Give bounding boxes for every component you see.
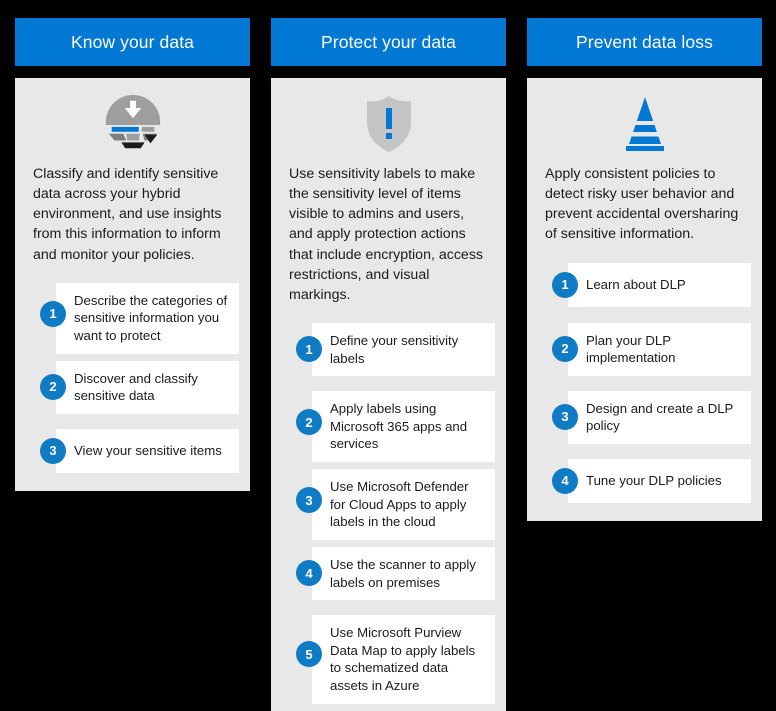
column-panel-know-your-data: Classify and identify sensitive data acr… <box>15 78 250 491</box>
step-card[interactable]: View your sensitive items <box>56 429 239 473</box>
step-number-badge: 3 <box>296 487 322 513</box>
column-header-label: Know your data <box>71 32 194 53</box>
list-item[interactable]: Define your sensitivity labels 1 <box>271 323 506 375</box>
list-item[interactable]: Design and create a DLP policy 3 <box>527 391 762 443</box>
steps-list-protect-your-data: Define your sensitivity labels 1 Apply l… <box>271 323 506 693</box>
list-item[interactable]: Tune your DLP policies 4 <box>527 459 762 503</box>
step-label: Apply labels using Microsoft 365 apps an… <box>330 400 485 453</box>
list-item[interactable]: Use the scanner to apply labels on premi… <box>271 547 506 599</box>
list-item[interactable]: View your sensitive items 3 <box>15 429 250 473</box>
steps-list-prevent-data-loss: Learn about DLP 1 Plan your DLP implemen… <box>527 263 762 503</box>
step-label: Define your sensitivity labels <box>330 332 485 367</box>
column-header-know-your-data: Know your data <box>15 18 250 66</box>
step-number-badge: 1 <box>40 301 66 327</box>
step-number-badge: 4 <box>552 468 578 494</box>
step-card[interactable]: Discover and classify sensitive data <box>56 361 239 414</box>
step-label: Learn about DLP <box>586 276 686 294</box>
step-number-badge: 3 <box>552 404 578 430</box>
step-card[interactable]: Design and create a DLP policy <box>568 391 751 444</box>
list-item[interactable]: Learn about DLP 1 <box>527 263 762 307</box>
step-card[interactable]: Tune your DLP policies <box>568 459 751 503</box>
step-number-badge: 4 <box>296 560 322 586</box>
step-card[interactable]: Use Microsoft Purview Data Map to apply … <box>312 615 495 704</box>
classify-download-circle-icon <box>15 78 250 164</box>
list-item[interactable]: Discover and classify sensitive data 2 <box>15 361 250 413</box>
step-label: Use the scanner to apply labels on premi… <box>330 556 485 591</box>
shield-exclamation-icon <box>271 78 506 164</box>
infographic-board: Know your data Classify and ide <box>0 0 776 682</box>
column-panel-prevent-data-loss: Apply consistent policies to detect risk… <box>527 78 762 521</box>
column-intro-text: Use sensitivity labels to make the sensi… <box>271 164 506 309</box>
step-label: Tune your DLP policies <box>586 472 722 490</box>
column-header-protect-your-data: Protect your data <box>271 18 506 66</box>
steps-list-know-your-data: Describe the categories of sensitive inf… <box>15 283 250 473</box>
column-intro-text: Classify and identify sensitive data acr… <box>15 164 250 269</box>
step-card[interactable]: Describe the categories of sensitive inf… <box>56 283 239 354</box>
step-label: View your sensitive items <box>74 442 222 460</box>
step-number-badge: 2 <box>40 374 66 400</box>
step-label: Design and create a DLP policy <box>586 400 741 435</box>
list-item[interactable]: Apply labels using Microsoft 365 apps an… <box>271 391 506 453</box>
step-card[interactable]: Use the scanner to apply labels on premi… <box>312 547 495 600</box>
column-intro-text: Apply consistent policies to detect risk… <box>527 164 762 249</box>
list-item[interactable]: Describe the categories of sensitive inf… <box>15 283 250 345</box>
step-number-badge: 2 <box>552 336 578 362</box>
step-number-badge: 2 <box>296 409 322 435</box>
step-label: Use Microsoft Purview Data Map to apply … <box>330 624 485 695</box>
step-label: Plan your DLP implementation <box>586 332 741 367</box>
step-card[interactable]: Use Microsoft Defender for Cloud Apps to… <box>312 469 495 540</box>
step-label: Use Microsoft Defender for Cloud Apps to… <box>330 478 485 531</box>
step-number-badge: 1 <box>552 272 578 298</box>
column-panel-protect-your-data: Use sensitivity labels to make the sensi… <box>271 78 506 711</box>
list-item[interactable]: Plan your DLP implementation 2 <box>527 323 762 375</box>
step-card[interactable]: Apply labels using Microsoft 365 apps an… <box>312 391 495 462</box>
list-item[interactable]: Use Microsoft Defender for Cloud Apps to… <box>271 469 506 531</box>
column-prevent-data-loss: Prevent data loss Apply consistent polic… <box>527 18 762 521</box>
list-item[interactable]: Use Microsoft Purview Data Map to apply … <box>271 615 506 693</box>
step-number-badge: 3 <box>40 438 66 464</box>
step-number-badge: 1 <box>296 336 322 362</box>
traffic-cone-icon <box>527 78 762 164</box>
step-card[interactable]: Define your sensitivity labels <box>312 323 495 376</box>
step-label: Describe the categories of sensitive inf… <box>74 292 229 345</box>
step-label: Discover and classify sensitive data <box>74 370 229 405</box>
column-header-prevent-data-loss: Prevent data loss <box>527 18 762 66</box>
column-header-label: Prevent data loss <box>576 32 713 53</box>
column-header-label: Protect your data <box>321 32 456 53</box>
step-number-badge: 5 <box>296 641 322 667</box>
step-card[interactable]: Plan your DLP implementation <box>568 323 751 376</box>
step-card[interactable]: Learn about DLP <box>568 263 751 307</box>
column-protect-your-data: Protect your data Use sensitivity labels… <box>271 18 506 711</box>
column-know-your-data: Know your data Classify and ide <box>15 18 250 491</box>
